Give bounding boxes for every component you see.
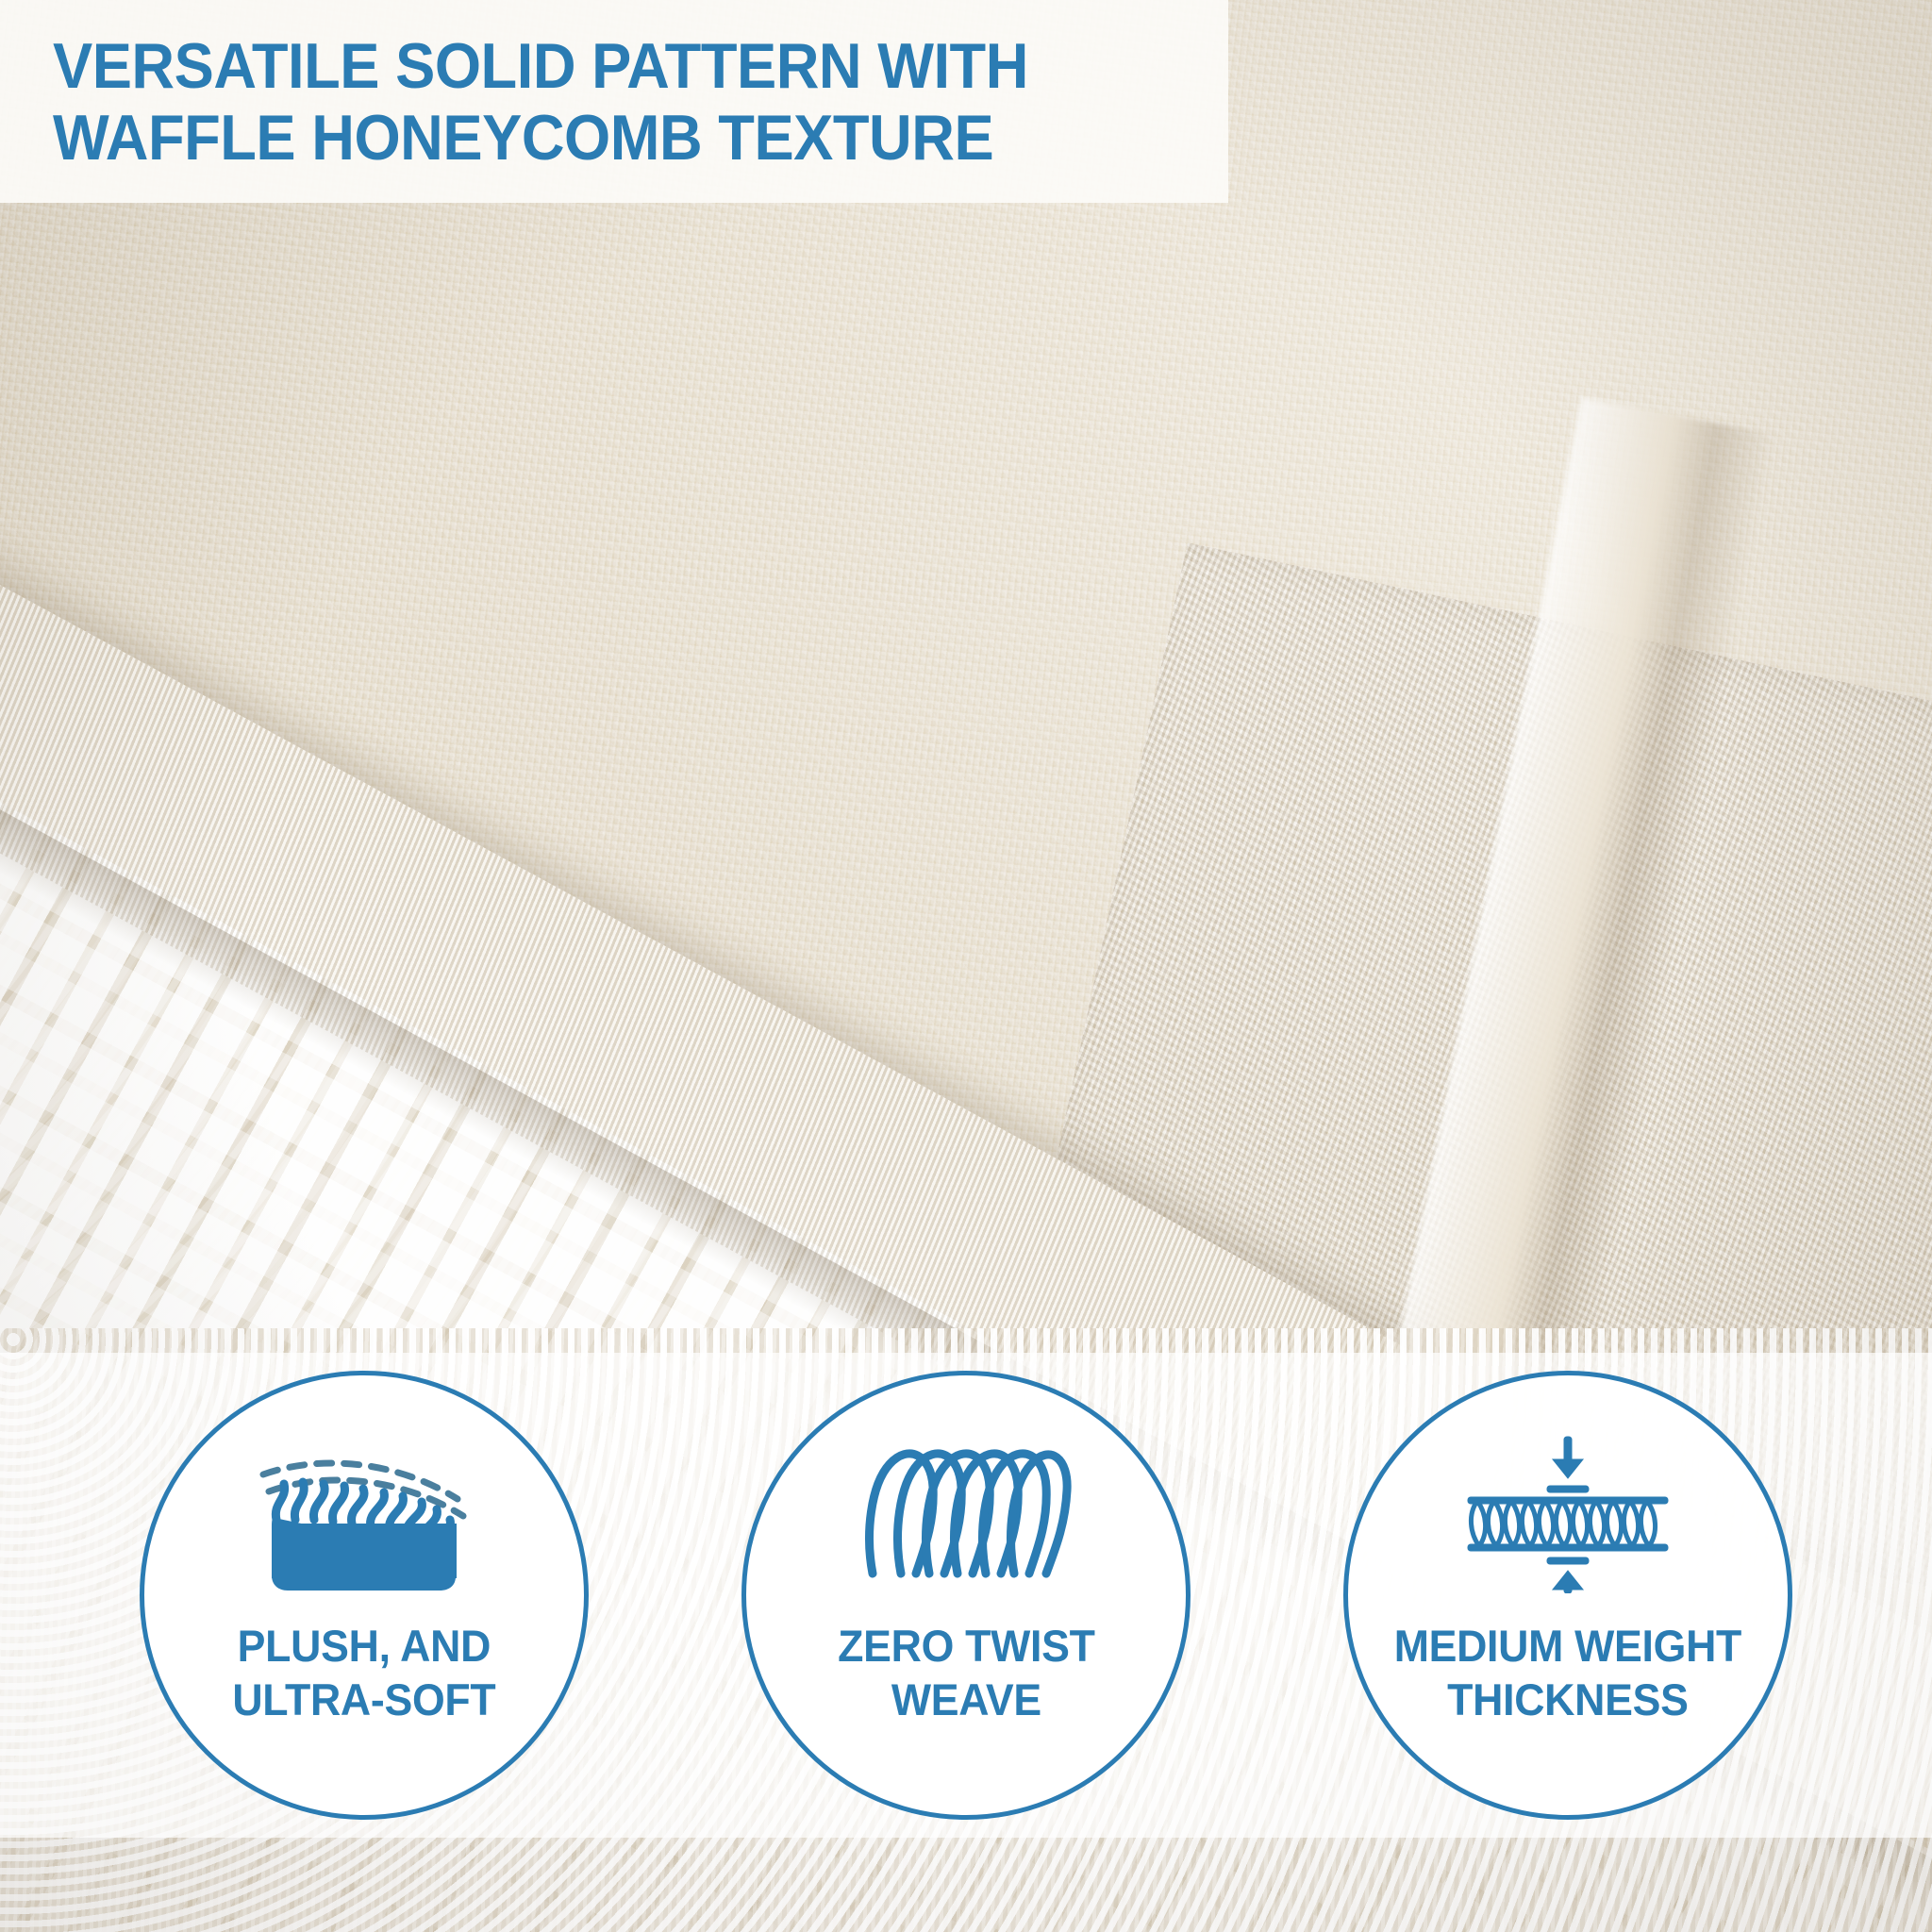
plush-pile-icon: [251, 1434, 477, 1594]
badge-label-plush-line-2: ULTRA-SOFT: [232, 1673, 495, 1726]
zero-twist-loops-icon: [853, 1434, 1079, 1594]
badge-label-plush-line-1: PLUSH, AND: [232, 1619, 495, 1673]
badge-label-thickness-line-2: THICKNESS: [1394, 1673, 1741, 1726]
badge-label-thickness: MEDIUM WEIGHT THICKNESS: [1394, 1619, 1741, 1726]
headline-banner: VERSATILE SOLID PATTERN WITH WAFFLE HONE…: [0, 0, 1228, 203]
headline-line-1: VERSATILE SOLID PATTERN WITH: [53, 30, 1146, 102]
badge-medium-weight-thickness[interactable]: MEDIUM WEIGHT THICKNESS: [1343, 1371, 1792, 1820]
feature-badge-row: PLUSH, AND ULTRA-SOFT: [0, 1353, 1932, 1838]
badge-zero-twist-weave[interactable]: ZERO TWIST WEAVE: [741, 1371, 1191, 1820]
thickness-arrows-icon: [1455, 1434, 1681, 1594]
badge-label-thickness-line-1: MEDIUM WEIGHT: [1394, 1619, 1741, 1673]
product-infographic: VERSATILE SOLID PATTERN WITH WAFFLE HONE…: [0, 0, 1932, 1932]
badge-label-plush: PLUSH, AND ULTRA-SOFT: [232, 1619, 495, 1726]
badge-plush-ultra-soft[interactable]: PLUSH, AND ULTRA-SOFT: [140, 1371, 589, 1820]
badge-label-zero-twist-line-1: ZERO TWIST: [838, 1619, 1094, 1673]
badge-label-zero-twist: ZERO TWIST WEAVE: [838, 1619, 1094, 1726]
badge-label-zero-twist-line-2: WEAVE: [838, 1673, 1094, 1726]
headline-line-2: WAFFLE HONEYCOMB TEXTURE: [53, 102, 1146, 174]
